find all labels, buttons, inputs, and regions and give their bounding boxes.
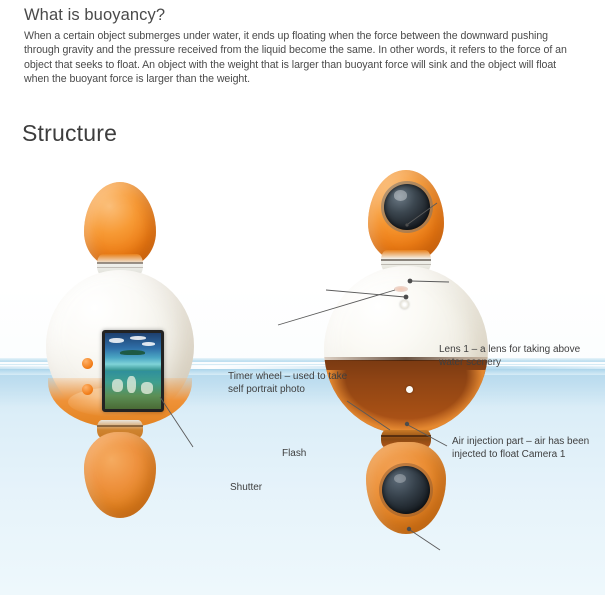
label-lens-1: Lens 1 – a lens for taking above water s… [439, 343, 589, 369]
section-heading-structure: Structure [22, 120, 117, 147]
lcd-coral-shape [112, 379, 123, 392]
label-air-injection: Air injection part – air has been inject… [452, 435, 600, 461]
lcd-cloud-icon [142, 342, 155, 345]
camera1-lcd-window [102, 330, 164, 412]
shutter-button-icon[interactable] [394, 286, 408, 292]
label-flash: Flash [282, 447, 326, 460]
label-timer-wheel: Timer wheel – used to take self portrait… [228, 370, 348, 396]
lens-2-underwater-icon [382, 466, 430, 514]
flash-icon [400, 300, 409, 309]
camera1-button-upper[interactable] [82, 358, 93, 369]
lcd-above-water-scene [105, 333, 161, 371]
lcd-coral-shape [141, 382, 153, 393]
camera-1-floating [40, 182, 210, 542]
camera2-orange-rim [324, 370, 488, 434]
air-injection-valve-icon [406, 386, 413, 393]
lcd-cloud-icon [130, 336, 147, 340]
camera1-air-chamber-bulb [84, 432, 156, 518]
page-root: What is buoyancy? When a certain object … [0, 0, 605, 595]
structure-diagram: Timer wheel – used to take self portrait… [0, 162, 605, 595]
lcd-underwater-scene [105, 371, 161, 409]
camera1-button-lower[interactable] [82, 384, 93, 395]
label-shutter: Shutter [230, 481, 278, 494]
lcd-cloud-icon [109, 338, 124, 343]
article-body: When a certain object submerges under wa… [24, 29, 584, 87]
lens-1-above-water-icon [384, 184, 430, 230]
article-block: What is buoyancy? When a certain object … [24, 6, 584, 87]
lcd-coral-shape [127, 376, 136, 393]
page-title: What is buoyancy? [24, 6, 584, 25]
lcd-island-shape [120, 350, 146, 355]
